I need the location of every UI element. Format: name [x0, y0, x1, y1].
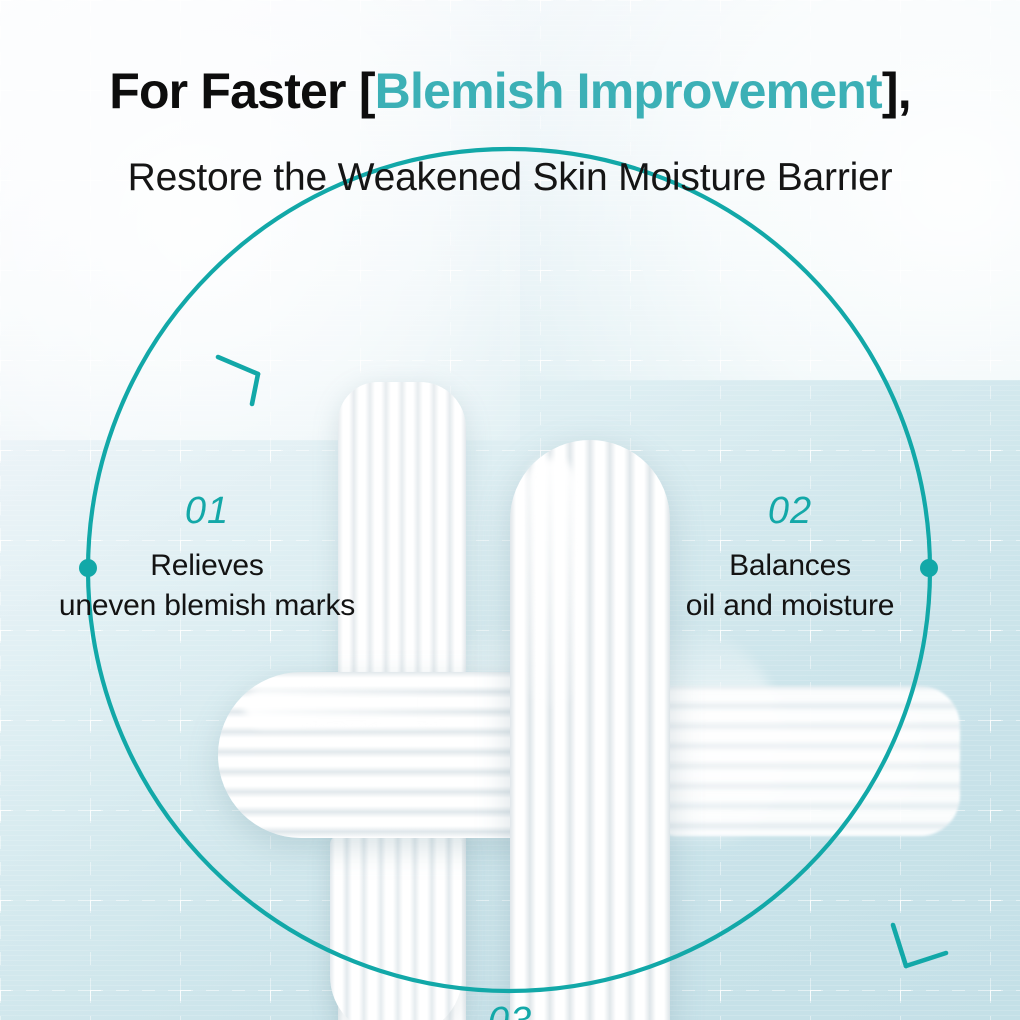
step-03-number: 03	[310, 1002, 710, 1020]
headline-accent-text: Blemish Improvement	[375, 63, 882, 119]
step-02-number: 02	[590, 492, 990, 530]
step-01-number: 01	[7, 492, 407, 530]
step-02-description: Balances oil and moisture	[590, 546, 990, 625]
headline-bracket-close: ],	[882, 63, 911, 119]
cream-smear-lower	[620, 690, 920, 810]
bottom-right-arrowhead	[893, 925, 946, 966]
page-headline: For Faster [Blemish Improvement],	[0, 62, 1020, 120]
step-01-description: Relieves uneven blemish marks	[7, 546, 407, 625]
cream-stroke-horizontal-right	[660, 686, 960, 836]
step-01-line-1: Relieves	[7, 546, 407, 586]
cream-stroke-vertical-thin	[338, 382, 466, 1020]
cycle-step-02: 02 Balances oil and moisture	[590, 492, 990, 625]
top-left-arrowhead	[218, 357, 258, 404]
cycle-step-03: 03	[310, 1002, 710, 1020]
poster-canvas: For Faster [Blemish Improvement], Restor…	[0, 0, 1020, 1020]
step-01-line-2: uneven blemish marks	[7, 586, 407, 626]
headline-prefix: For Faster	[109, 63, 359, 119]
page-subheadline: Restore the Weakened Skin Moisture Barri…	[0, 156, 1020, 200]
cream-stroke-vertical-bottom	[330, 836, 462, 1020]
headline-bracket-open: [	[359, 63, 375, 119]
cream-smear-upper	[452, 620, 782, 850]
step-02-line-1: Balances	[590, 546, 990, 586]
cream-stroke-horizontal-main	[218, 672, 618, 838]
cycle-step-01: 01 Relieves uneven blemish marks	[7, 492, 407, 625]
step-02-line-2: oil and moisture	[590, 586, 990, 626]
